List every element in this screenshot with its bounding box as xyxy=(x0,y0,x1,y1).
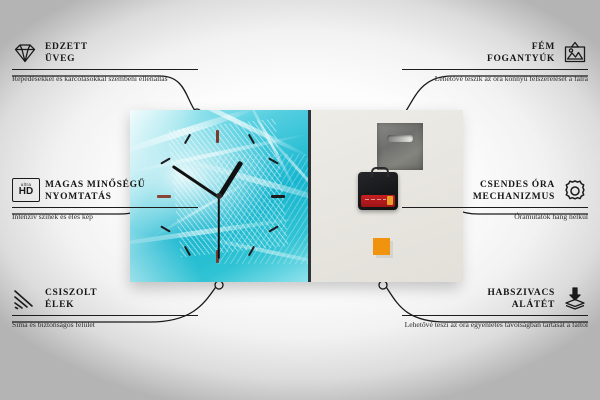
feature-title-line2: ÜVEG xyxy=(45,54,75,64)
ultra-hd-icon: ultra HD xyxy=(12,178,38,204)
second-hand xyxy=(218,197,220,259)
feature-silent-mechanism: CSENDES ÓRA MECHANIZMUS Óramutatók hang … xyxy=(402,178,588,222)
picture-hanger-icon xyxy=(562,40,588,66)
connector-dot-6 xyxy=(379,281,387,289)
hand-center-cap xyxy=(216,193,222,199)
feature-title-line1: FÉM xyxy=(532,42,555,52)
gear-icon xyxy=(562,178,588,204)
battery-compartment xyxy=(361,195,395,207)
divider xyxy=(402,207,588,208)
foam-pad-icon xyxy=(562,286,588,312)
hd-icon-main-text: HD xyxy=(19,187,33,197)
feature-title-line1: HABSZIVACS xyxy=(487,288,555,298)
feature-description: Óramutatók hang nélkül xyxy=(402,212,588,222)
metal-hanger-plate xyxy=(377,123,423,170)
battery-marking xyxy=(365,199,369,200)
feature-title-line1: CSENDES ÓRA xyxy=(480,180,555,190)
infographic-canvas: EDZETT ÜVEG Repedésekkel és karcolásokka… xyxy=(0,0,600,400)
feature-title-line2: FOGANTYÚK xyxy=(487,54,555,64)
feature-metal-handles: FÉM FOGANTYÚK Lehetővé teszik az óra kön… xyxy=(402,40,588,84)
mechanism-hook xyxy=(371,167,389,177)
battery-marking xyxy=(377,199,381,200)
foam-spacer-pad xyxy=(373,238,390,255)
battery-plus-terminal xyxy=(387,196,393,205)
divider xyxy=(12,315,198,316)
battery-marking xyxy=(371,199,375,200)
battery-marking xyxy=(383,199,386,200)
divider xyxy=(12,207,198,208)
feature-title-line2: ÉLEK xyxy=(45,300,74,310)
feature-tempered-glass: EDZETT ÜVEG Repedésekkel és karcolásokka… xyxy=(12,40,198,84)
feature-hd-printing: ultra HD MAGAS MINŐSÉGŰ NYOMTATÁS Intenz… xyxy=(12,178,198,222)
divider xyxy=(402,69,588,70)
feature-title-line1: MAGAS MINŐSÉGŰ xyxy=(45,180,145,190)
divider xyxy=(12,69,198,70)
clock-tick xyxy=(216,130,219,143)
connector-dot-3 xyxy=(215,281,223,289)
feature-title-line1: EDZETT xyxy=(45,42,88,52)
feather-plume xyxy=(216,154,308,264)
feature-polished-edges: CSISZOLT ÉLEK Sima és biztonságos felüle… xyxy=(12,286,198,330)
hanger-slot xyxy=(387,135,413,142)
feature-foam-pad: HABSZIVACS ALÁTÉT Lehetővé teszi az óra … xyxy=(402,286,588,330)
feature-description: Sima és biztonságos felület xyxy=(12,320,198,330)
feature-description: Lehetővé teszi az óra egyenletes távolsá… xyxy=(402,320,588,330)
polished-edges-icon xyxy=(12,286,38,312)
feature-title-line2: NYOMTATÁS xyxy=(45,192,112,202)
feature-description: Repedésekkel és karcolásokkal szembeni e… xyxy=(12,74,198,84)
divider xyxy=(402,315,588,316)
feature-title-line2: ALÁTÉT xyxy=(512,300,555,310)
clock-tick xyxy=(271,195,285,198)
diamond-icon xyxy=(12,40,38,66)
quartz-mechanism xyxy=(358,172,398,210)
feature-title-line2: MECHANIZMUS xyxy=(473,192,555,202)
feature-description: Lehetővé teszik az óra könnyű felszerelé… xyxy=(402,74,588,84)
feature-description: Intenzív színek és éles kép xyxy=(12,212,198,222)
feature-title-line1: CSISZOLT xyxy=(45,288,97,298)
